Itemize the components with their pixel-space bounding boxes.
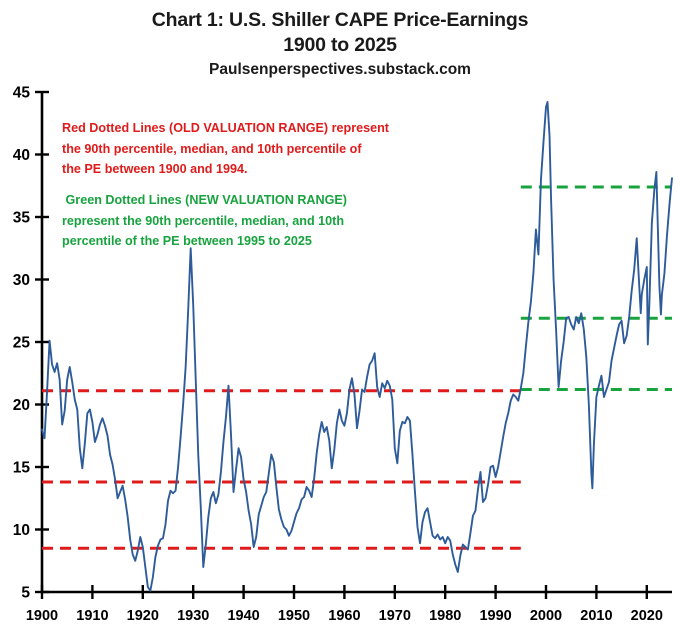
y-tick-label-45: 45 (13, 85, 31, 102)
cape-series-line (42, 102, 672, 591)
y-tick-label-20: 20 (13, 397, 30, 414)
x-tick-label-1930: 1930 (177, 608, 209, 624)
y-tick-label-10: 10 (13, 522, 30, 539)
x-tick-label-2000: 2000 (530, 608, 562, 624)
x-tick-label-1910: 1910 (76, 608, 108, 624)
y-tick-label-15: 15 (13, 460, 31, 477)
y-tick-label-40: 40 (13, 147, 30, 164)
y-tick-label-35: 35 (13, 210, 31, 227)
x-tick-label-1900: 1900 (26, 608, 58, 624)
x-tick-label-1950: 1950 (278, 608, 310, 624)
x-tick-label-1990: 1990 (479, 608, 511, 624)
chart-container: Chart 1: U.S. Shiller CAPE Price-Earning… (0, 0, 680, 635)
x-tick-label-1920: 1920 (127, 608, 159, 624)
x-tick-label-1940: 1940 (227, 608, 259, 624)
x-tick-label-1970: 1970 (379, 608, 411, 624)
y-tick-label-30: 30 (13, 272, 30, 289)
x-tick-label-1980: 1980 (429, 608, 461, 624)
x-tick-label-2010: 2010 (580, 608, 612, 624)
x-tick-label-1960: 1960 (328, 608, 360, 624)
y-tick-label-5: 5 (21, 585, 30, 602)
cape-line-plot: 5101520253035404519001910192019301940195… (0, 0, 680, 635)
y-tick-label-25: 25 (13, 335, 31, 352)
x-tick-label-2020: 2020 (631, 608, 663, 624)
